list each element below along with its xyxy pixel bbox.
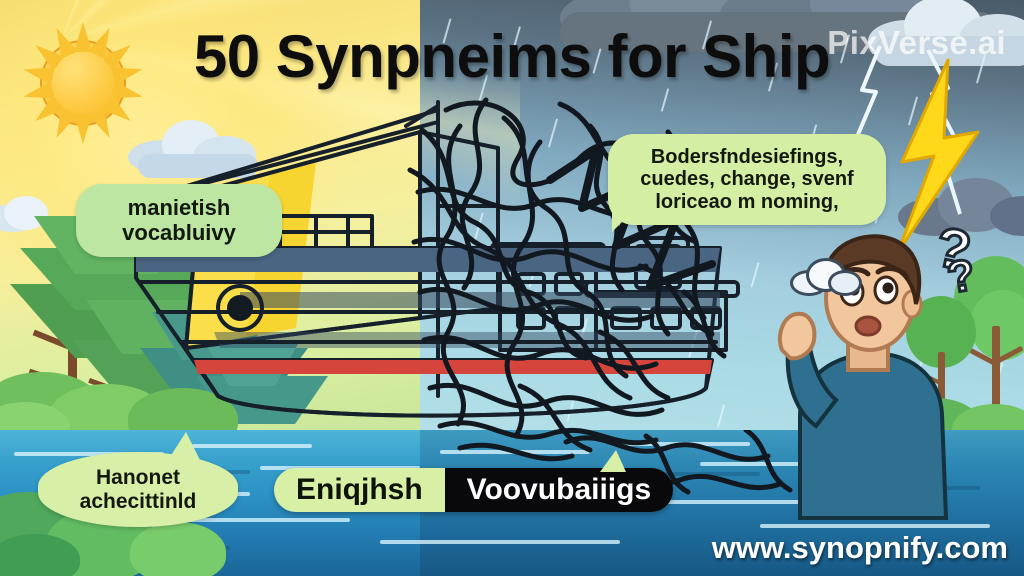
bubble-line: manietish (86, 196, 272, 221)
wave-line (380, 540, 620, 544)
bubble-line: cuedes, change, svenf (620, 168, 874, 190)
bubble-tail-right (612, 206, 638, 232)
banner-tail (600, 450, 626, 472)
speech-bubble-left-top: manietish vocabluivy (76, 184, 282, 257)
bubble-line: Hanonet (48, 466, 228, 490)
wave-line (760, 524, 990, 528)
bubble-line: achecittinld (48, 490, 228, 514)
banner-right-label: Voovubaiiigs (445, 468, 673, 512)
category-banner: Eniqjhsh Voovubaiiigs (274, 468, 673, 512)
site-url-footer: www.synopnify.com (712, 530, 1008, 566)
sun-ray (74, 114, 92, 144)
bubble-line: loriceao m noming, (620, 191, 874, 213)
foreground-foliage-c (130, 522, 226, 576)
bubble-tail-bottom-left (168, 432, 200, 460)
pixverse-watermark: PixVerse.ai (827, 24, 1006, 62)
speech-bubble-right-top: Bodersfndesiefings, cuedes, change, sven… (608, 134, 886, 225)
thumbnail-canvas: ? ? 50 Synpneims for Ship manietish voca… (0, 0, 1024, 576)
speech-bubble-bottom-left: Hanonet achecittinld (38, 452, 238, 527)
bubble-line: Bodersfndesiefings, (620, 146, 874, 168)
bubble-line: vocabluivy (86, 221, 272, 246)
banner-left-label: Eniqjhsh (274, 468, 445, 512)
